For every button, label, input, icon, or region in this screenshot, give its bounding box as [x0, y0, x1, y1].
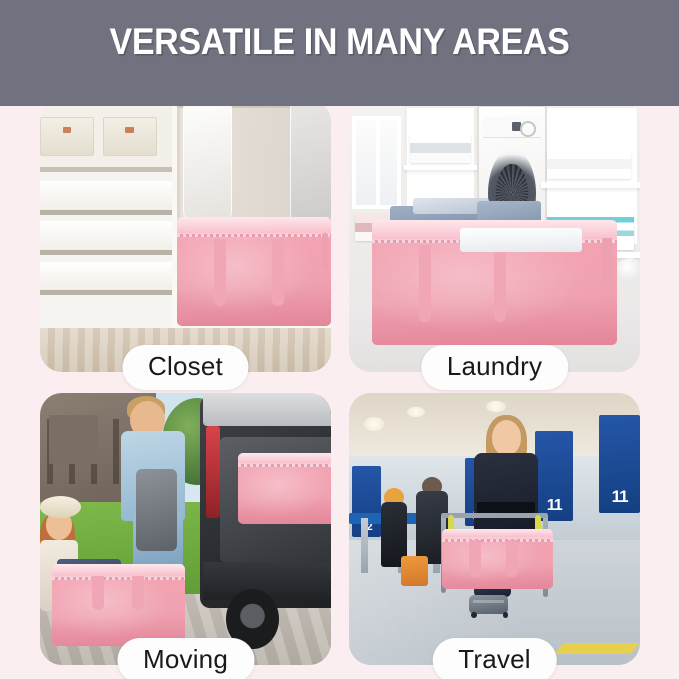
- building-tower: [49, 415, 98, 464]
- panel-moving[interactable]: Moving: [40, 393, 331, 665]
- closet-drawer: [40, 181, 177, 214]
- ceiling-light: [364, 417, 384, 431]
- garment-bag: [183, 105, 232, 225]
- gray-backpack: [136, 469, 177, 551]
- folded-clothes-in-bag: [460, 228, 582, 252]
- washer-control-panel: [483, 117, 541, 138]
- storage-box: [103, 117, 157, 157]
- folded-towels: [410, 133, 471, 163]
- ceiling-light: [486, 401, 506, 412]
- panel-label-laundry: Laundry: [421, 345, 568, 390]
- panel-grid: Closet: [40, 100, 640, 665]
- sun-hat: [40, 496, 81, 518]
- panel-travel[interactable]: 12 11 11 11: [349, 393, 640, 665]
- panel-label-closet: Closet: [122, 345, 249, 390]
- laundry-photo: [349, 100, 640, 372]
- travel-photo: 12 11 11 11: [349, 393, 640, 665]
- closet-photo: [40, 100, 331, 372]
- closet-drawer: [40, 262, 177, 295]
- pink-storage-bag: [442, 529, 553, 589]
- cart-handle-bar: [441, 513, 548, 519]
- trunk-hatch-door: [203, 393, 331, 426]
- panel-label-moving: Moving: [117, 638, 254, 679]
- laundry-shelf: [541, 182, 640, 188]
- tail-light: [206, 426, 221, 518]
- laundry-window: [352, 116, 401, 208]
- orange-luggage: [401, 556, 427, 586]
- cart-wheel: [503, 612, 509, 618]
- ceiling-light: [407, 407, 424, 418]
- floor-marking: [554, 643, 639, 654]
- storage-box: [40, 117, 94, 157]
- header-banner: VERSATILE IN MANY AREAS: [0, 0, 679, 106]
- rolled-towel: [617, 258, 640, 280]
- panel-closet[interactable]: Closet: [40, 100, 331, 372]
- closet-drawer-unit: [40, 105, 180, 328]
- laundry-shelf: [404, 165, 477, 170]
- pink-storage-bag: [177, 217, 331, 326]
- folded-towels: [547, 149, 631, 179]
- barrier-post: [361, 518, 368, 572]
- panel-label-travel: Travel: [432, 638, 556, 679]
- closet-drawer: [40, 221, 177, 254]
- pink-storage-bag: [52, 564, 186, 646]
- woman-head: [492, 420, 521, 455]
- gate-sign-11-near: 11: [599, 415, 640, 513]
- page-title: VERSATILE IN MANY AREAS: [27, 21, 652, 63]
- cart-wheel: [471, 612, 477, 618]
- pink-storage-bag: [238, 453, 331, 524]
- panel-laundry[interactable]: Laundry: [349, 100, 640, 372]
- closet-top-shelf: [40, 105, 177, 172]
- moving-photo: [40, 393, 331, 665]
- gate-number: 11: [599, 487, 640, 507]
- coat-belt: [477, 502, 535, 513]
- gate-sign-11-mid: 11: [535, 431, 573, 521]
